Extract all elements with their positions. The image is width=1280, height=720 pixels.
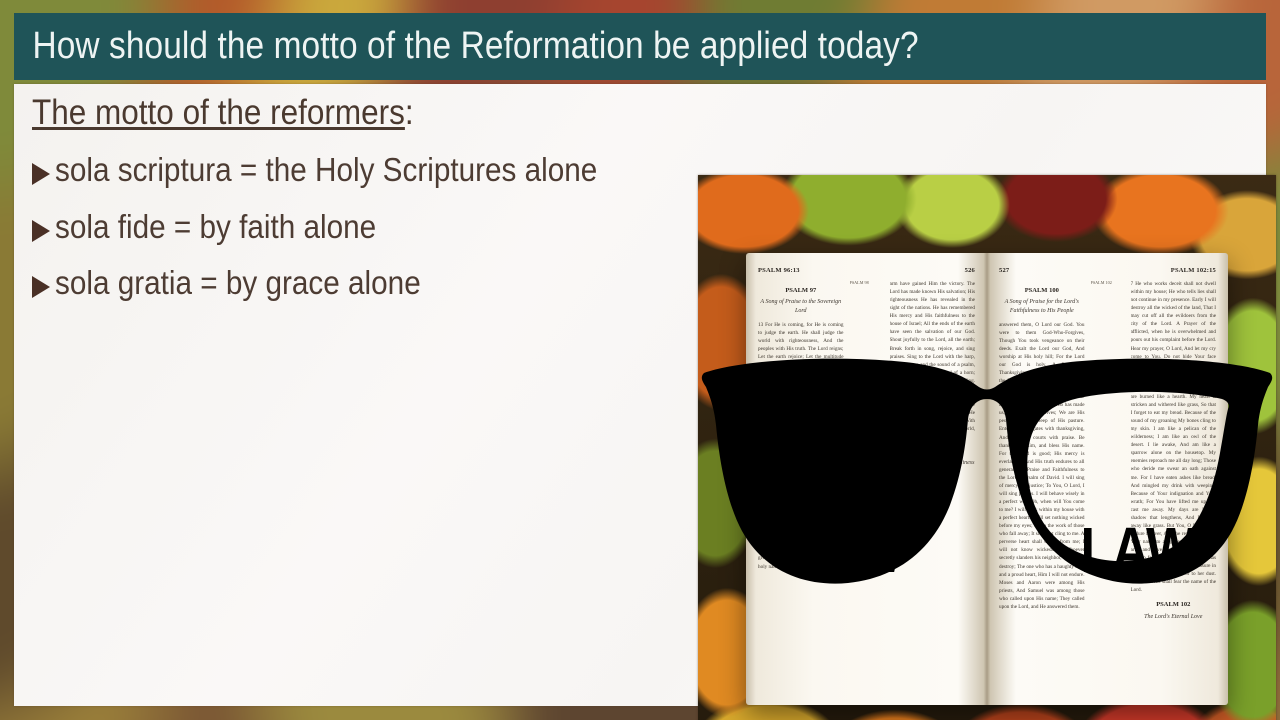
bullet-list: The motto of the reformers: sola scriptu… [32, 92, 672, 303]
content-panel: The motto of the reformers: sola scriptu… [14, 84, 1266, 706]
body-heading: The motto of the reformers: [32, 92, 608, 133]
list-item-label: sola scriptura = the Holy Scriptures alo… [55, 150, 597, 190]
list-item-label: sola gratia = by grace alone [55, 263, 421, 303]
slide: How should the motto of the Reformation … [0, 0, 1280, 720]
page-title: How should the motto of the Reformation … [14, 25, 919, 68]
triangle-bullet-icon [32, 220, 50, 242]
lens-label-right: LAW [1081, 513, 1195, 587]
body-heading-underlined: The motto of the reformers [32, 93, 405, 132]
triangle-bullet-icon [32, 276, 50, 298]
list-item: sola scriptura = the Holy Scriptures alo… [32, 150, 672, 190]
body-heading-colon: : [405, 93, 414, 132]
list-item-label: sola fide = by faith alone [55, 207, 376, 247]
slide-image: PSALM 96:13 526 PSALM 97 A Song of Prais… [698, 175, 1276, 720]
lens-label-left: LAW [789, 513, 903, 587]
slide-title-bar: How should the motto of the Reformation … [14, 13, 1266, 80]
list-item: sola gratia = by grace alone [32, 263, 672, 303]
triangle-bullet-icon [32, 163, 50, 185]
list-item: sola fide = by faith alone [32, 207, 672, 247]
glasses-icon [698, 175, 1276, 720]
